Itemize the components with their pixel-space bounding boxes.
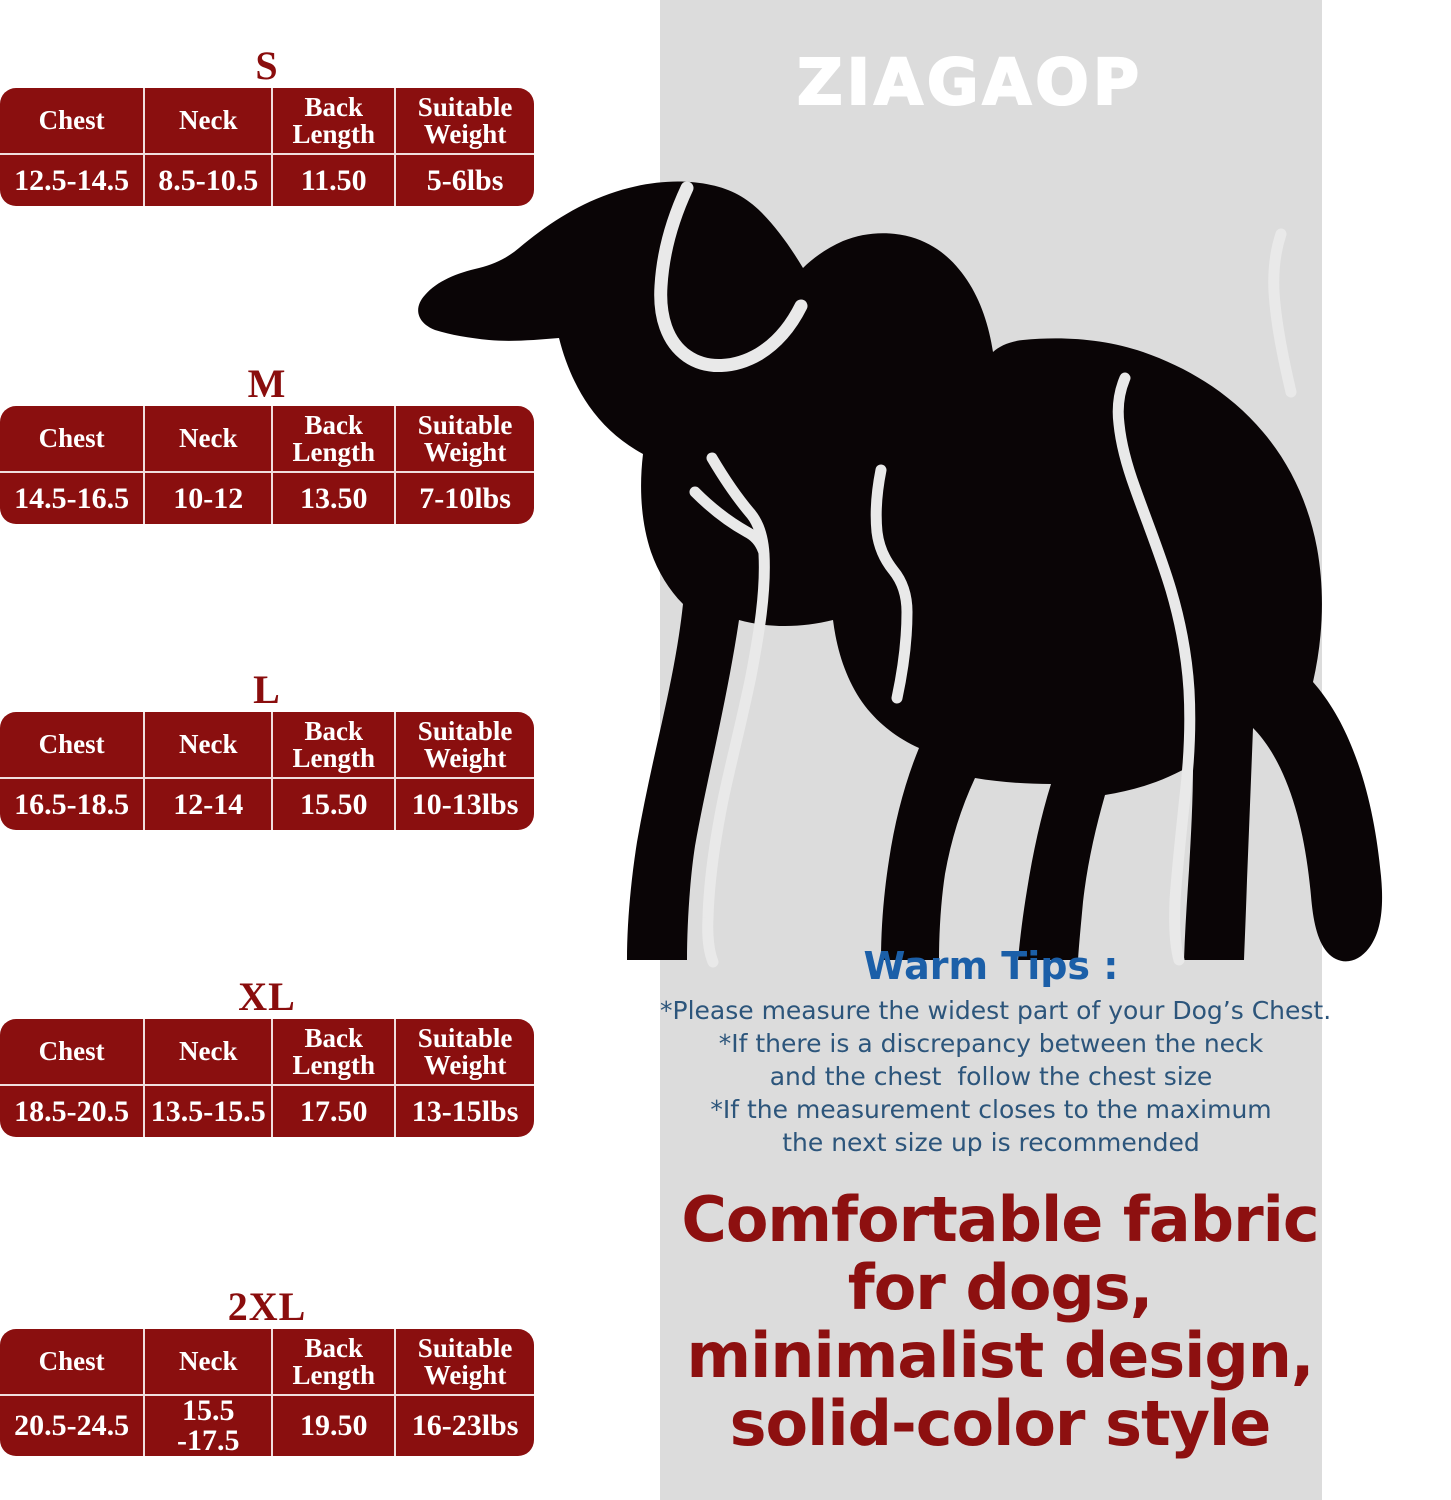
table-row: 18.5-20.5 13.5-15.5 17.50 13-15lbs xyxy=(0,1085,534,1137)
size-block-xl: XL Chest Neck BackLength SuitableWeight … xyxy=(0,975,534,1137)
header-suitable-weight: SuitableWeight xyxy=(395,1329,534,1395)
header-suitable-weight: SuitableWeight xyxy=(395,88,534,154)
cell-chest: 20.5-24.5 xyxy=(0,1395,144,1456)
header-back-length-line2: Length xyxy=(292,437,375,467)
header-back-length-line1: Back xyxy=(304,716,363,746)
size-block-l: L Chest Neck BackLength SuitableWeight 1… xyxy=(0,668,534,830)
cell-chest: 12.5-14.5 xyxy=(0,154,144,206)
header-weight-line1: Suitable xyxy=(418,716,513,746)
cell-back-length: 11.50 xyxy=(272,154,395,206)
size-label-2xl: 2XL xyxy=(0,1285,534,1329)
cell-back-length: 15.50 xyxy=(272,778,395,830)
size-label-l: L xyxy=(0,668,534,712)
size-label-xl: XL xyxy=(0,975,534,1019)
size-table-xl: Chest Neck BackLength SuitableWeight 18.… xyxy=(0,1019,534,1137)
header-weight-line1: Suitable xyxy=(418,1333,513,1363)
size-table-2xl: Chest Neck BackLength SuitableWeight 20.… xyxy=(0,1329,534,1456)
header-weight-line2: Weight xyxy=(424,1360,507,1390)
table-row: 20.5-24.5 15.5 -17.5 19.50 16-23lbs xyxy=(0,1395,534,1456)
header-neck: Neck xyxy=(144,406,272,472)
table-header-row: Chest Neck BackLength SuitableWeight xyxy=(0,1019,534,1085)
table-row: 16.5-18.5 12-14 15.50 10-13lbs xyxy=(0,778,534,830)
warm-tips-line-5: the next size up is recommended xyxy=(660,1126,1322,1159)
tagline-line-2: for dogs, xyxy=(620,1254,1380,1322)
header-weight-line2: Weight xyxy=(424,119,507,149)
cell-back-length: 13.50 xyxy=(272,472,395,524)
header-chest: Chest xyxy=(0,1329,144,1395)
warm-tips-body: *Please measure the widest part of your … xyxy=(660,994,1322,1159)
header-weight-line1: Suitable xyxy=(418,1023,513,1053)
table-row: 12.5-14.5 8.5-10.5 11.50 5-6lbs xyxy=(0,154,534,206)
cell-weight: 7-10lbs xyxy=(395,472,534,524)
header-back-length: BackLength xyxy=(272,712,395,778)
cell-back-length: 17.50 xyxy=(272,1085,395,1137)
size-block-2xl: 2XL Chest Neck BackLength SuitableWeight… xyxy=(0,1285,534,1456)
cell-chest: 18.5-20.5 xyxy=(0,1085,144,1137)
header-back-length-line1: Back xyxy=(304,1023,363,1053)
cell-chest: 14.5-16.5 xyxy=(0,472,144,524)
table-header-row: Chest Neck BackLength SuitableWeight xyxy=(0,1329,534,1395)
header-back-length-line2: Length xyxy=(292,1050,375,1080)
header-neck: Neck xyxy=(144,1019,272,1085)
header-weight-line1: Suitable xyxy=(418,410,513,440)
header-back-length: BackLength xyxy=(272,88,395,154)
table-header-row: Chest Neck BackLength SuitableWeight xyxy=(0,88,534,154)
cell-weight: 13-15lbs xyxy=(395,1085,534,1137)
header-back-length-line2: Length xyxy=(292,1360,375,1390)
header-back-length: BackLength xyxy=(272,406,395,472)
cell-weight: 16-23lbs xyxy=(395,1395,534,1456)
cell-neck: 8.5-10.5 xyxy=(144,154,272,206)
cell-neck: 13.5-15.5 xyxy=(144,1085,272,1137)
tagline-line-4: solid-color style xyxy=(620,1390,1380,1458)
table-header-row: Chest Neck BackLength SuitableWeight xyxy=(0,406,534,472)
header-weight-line1: Suitable xyxy=(418,92,513,122)
cell-neck: 12-14 xyxy=(144,778,272,830)
warm-tips-line-4: *If the measurement closes to the maximu… xyxy=(660,1093,1322,1126)
warm-tips-title: Warm Tips : xyxy=(660,944,1322,988)
cell-neck: 10-12 xyxy=(144,472,272,524)
tagline-line-3: minimalist design, xyxy=(620,1322,1380,1390)
header-back-length-line1: Back xyxy=(304,1333,363,1363)
header-back-length-line1: Back xyxy=(304,410,363,440)
header-chest: Chest xyxy=(0,406,144,472)
header-back-length-line2: Length xyxy=(292,743,375,773)
header-neck: Neck xyxy=(144,1329,272,1395)
cell-weight: 10-13lbs xyxy=(395,778,534,830)
header-chest: Chest xyxy=(0,88,144,154)
size-block-s: S Chest Neck BackLength SuitableWeight 1… xyxy=(0,44,534,206)
warm-tips-line-1: *Please measure the widest part of your … xyxy=(660,994,1322,1027)
header-back-length-line1: Back xyxy=(304,92,363,122)
brand-logo-text: ZIAGAOP xyxy=(770,50,1170,116)
header-back-length-line2: Length xyxy=(292,119,375,149)
header-neck: Neck xyxy=(144,88,272,154)
warm-tips-line-2: *If there is a discrepancy between the n… xyxy=(660,1027,1322,1060)
header-weight-line2: Weight xyxy=(424,1050,507,1080)
dog-silhouette-illustration xyxy=(395,140,1451,970)
warm-tips-section: Warm Tips : *Please measure the widest p… xyxy=(660,944,1322,1159)
cell-back-length: 19.50 xyxy=(272,1395,395,1456)
header-back-length: BackLength xyxy=(272,1329,395,1395)
header-suitable-weight: SuitableWeight xyxy=(395,712,534,778)
tagline-block: Comfortable fabric for dogs, minimalist … xyxy=(620,1186,1380,1458)
size-chart-infographic: ZIAGAOP S Chest Neck BackLength Suitable… xyxy=(0,0,1451,1500)
header-suitable-weight: SuitableWeight xyxy=(395,406,534,472)
header-neck: Neck xyxy=(144,712,272,778)
size-table-s: Chest Neck BackLength SuitableWeight 12.… xyxy=(0,88,534,206)
header-suitable-weight: SuitableWeight xyxy=(395,1019,534,1085)
tagline-line-1: Comfortable fabric xyxy=(620,1186,1380,1254)
header-chest: Chest xyxy=(0,1019,144,1085)
header-weight-line2: Weight xyxy=(424,743,507,773)
size-label-m: M xyxy=(0,362,534,406)
size-table-l: Chest Neck BackLength SuitableWeight 16.… xyxy=(0,712,534,830)
header-weight-line2: Weight xyxy=(424,437,507,467)
header-back-length: BackLength xyxy=(272,1019,395,1085)
size-label-s: S xyxy=(0,44,534,88)
size-block-m: M Chest Neck BackLength SuitableWeight 1… xyxy=(0,362,534,524)
warm-tips-line-3: and the chest follow the chest size xyxy=(660,1060,1322,1093)
size-table-m: Chest Neck BackLength SuitableWeight 14.… xyxy=(0,406,534,524)
cell-neck: 15.5 -17.5 xyxy=(144,1395,272,1456)
cell-weight: 5-6lbs xyxy=(395,154,534,206)
cell-chest: 16.5-18.5 xyxy=(0,778,144,830)
table-header-row: Chest Neck BackLength SuitableWeight xyxy=(0,712,534,778)
header-chest: Chest xyxy=(0,712,144,778)
table-row: 14.5-16.5 10-12 13.50 7-10lbs xyxy=(0,472,534,524)
